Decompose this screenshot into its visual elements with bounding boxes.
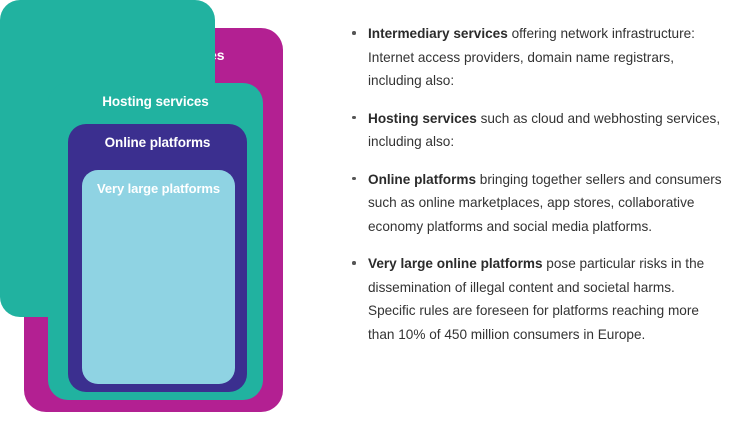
list-item-lead: Online platforms <box>368 172 476 187</box>
list-item-lead: Very large online platforms <box>368 256 543 271</box>
layer-hosting-services-label: Hosting services <box>48 83 263 109</box>
dsa-service-layers-infographic: Intermediary services Hosting services O… <box>0 0 740 421</box>
list-item-lead: Intermediary services <box>368 26 508 41</box>
list-item: Intermediary services offering network i… <box>347 22 725 93</box>
bullet-dot-icon <box>352 116 356 120</box>
list-item: Very large online platforms pose particu… <box>347 252 725 346</box>
bullet-dot-icon <box>352 261 356 265</box>
nested-layers-diagram: Intermediary services Hosting services O… <box>0 0 320 421</box>
layer-very-large-platforms-label: Very large platforms <box>82 170 235 195</box>
layer-online-platforms-label: Online platforms <box>68 124 247 150</box>
bullet-dot-icon <box>352 31 356 35</box>
layer-very-large-platforms: Very large platforms <box>82 170 235 384</box>
list-item: Online platforms bringing together selle… <box>347 168 725 239</box>
list-item: Hosting services such as cloud and webho… <box>347 107 725 154</box>
bullet-dot-icon <box>352 177 356 181</box>
service-definitions-list: Intermediary services offering network i… <box>347 22 725 346</box>
list-item-lead: Hosting services <box>368 111 477 126</box>
